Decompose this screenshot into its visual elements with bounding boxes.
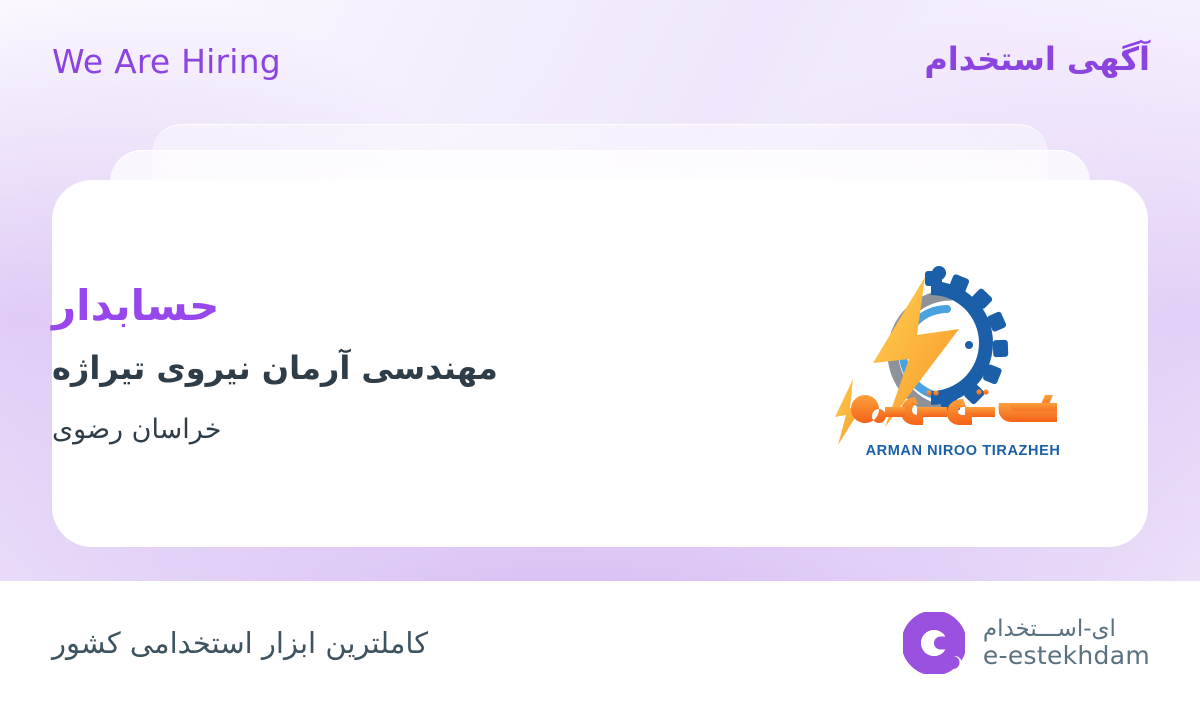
brand-latin-name: e-estekhdam — [983, 642, 1150, 669]
footer-slogan: کاملترین ابزار استخدامی کشور — [52, 626, 428, 660]
job-card[interactable]: حسابدار مهندسی آرمان نیروی تیراژه خراسان… — [52, 180, 1148, 547]
job-info-column: حسابدار مهندسی آرمان نیروی تیراژه خراسان… — [52, 280, 748, 447]
company-logo-column: ARMAN NIROO TIRAZHEH — [748, 180, 1148, 547]
e-estekhdam-logo-icon — [903, 612, 965, 674]
brand-persian-name: ای-اســـتخدام — [983, 617, 1116, 642]
logo-latin-wordmark: ARMAN NIROO TIRAZHEH — [866, 443, 1061, 459]
job-ad-page: We Are Hiring آگهی استخدام حسابدار مهندس… — [0, 0, 1200, 705]
e-estekhdam-brand[interactable]: ای-اســـتخدام e-estekhdam — [903, 612, 1150, 674]
company-name: مهندسی آرمان نیروی تیراژه — [52, 348, 498, 390]
job-location: خراسان رضوی — [52, 412, 221, 447]
job-title: حسابدار — [52, 280, 219, 333]
page-footer: کاملترین ابزار استخدامی کشور ای-اســـتخد… — [0, 581, 1200, 705]
brand-wordmark: ای-اســـتخدام e-estekhdam — [983, 617, 1150, 669]
company-logo: ARMAN NIROO TIRAZHEH — [813, 259, 1083, 469]
header-persian-label: آگهی استخدام — [924, 40, 1150, 78]
header-english-label: We Are Hiring — [52, 42, 281, 81]
